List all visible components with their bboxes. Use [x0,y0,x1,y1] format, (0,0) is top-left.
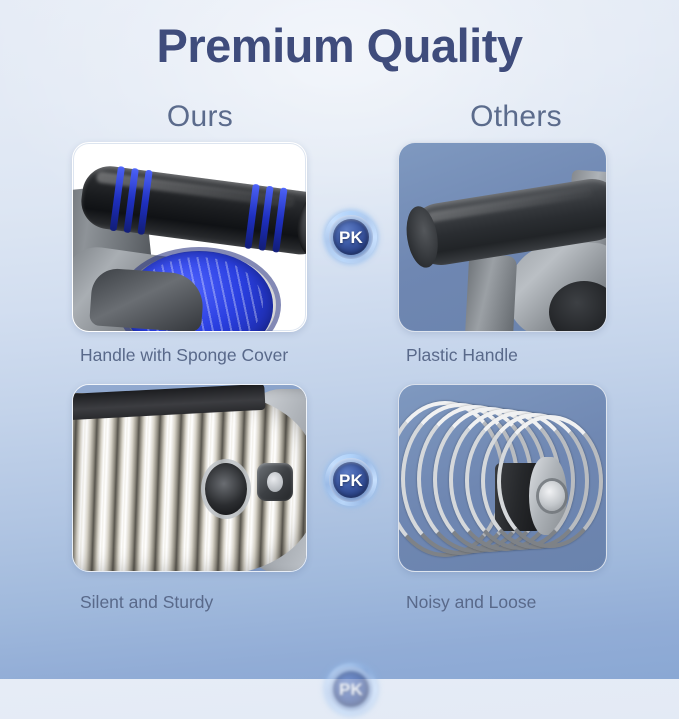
pk-versus-badge-row2: PK [325,454,377,506]
ours-spring-caption: Silent and Sturdy [80,592,213,613]
ours-handle-card [72,142,307,332]
grip-blue-band-icon [272,187,287,252]
pk-versus-badge-row1: PK [325,211,377,263]
loose-coil-spring-shape [399,385,606,571]
grip-blue-band-icon [137,170,152,235]
others-handle-photo [399,143,606,331]
pk-badge-label: PK [339,681,363,698]
pk-core-icon: PK [333,462,369,498]
others-spring-card [398,384,607,572]
axle-nut-shape [257,463,293,501]
pk-badge-label: PK [339,229,363,246]
pk-versus-badge-row3-partial: PK [325,663,377,715]
bearing-shape [205,463,247,515]
coil-ring-shape [497,415,603,548]
handle-end-cap-shape [403,204,442,270]
grip-blue-band-icon [244,184,259,249]
wheel-arm-vertical-shape [465,254,517,331]
column-header-others: Others [396,100,636,134]
others-spring-caption: Noisy and Loose [406,592,536,613]
others-spring-photo [399,385,606,571]
others-handle-caption: Plastic Handle [406,345,518,366]
ours-spring-card [72,384,307,572]
grip-blue-band-icon [123,168,138,233]
grip-blue-band-icon [110,166,125,231]
grip-blue-band-icon [258,186,273,251]
pk-core-icon: PK [333,671,369,707]
ours-handle-caption: Handle with Sponge Cover [80,345,288,366]
ours-spring-photo [73,385,306,571]
grip-end-cap-shape [294,191,306,258]
pk-core-icon: PK [333,219,369,255]
page-title: Premium Quality [0,18,679,73]
ours-handle-photo [73,143,306,331]
pk-badge-label: PK [339,472,363,489]
column-header-ours: Ours [80,100,320,134]
others-handle-card [398,142,607,332]
